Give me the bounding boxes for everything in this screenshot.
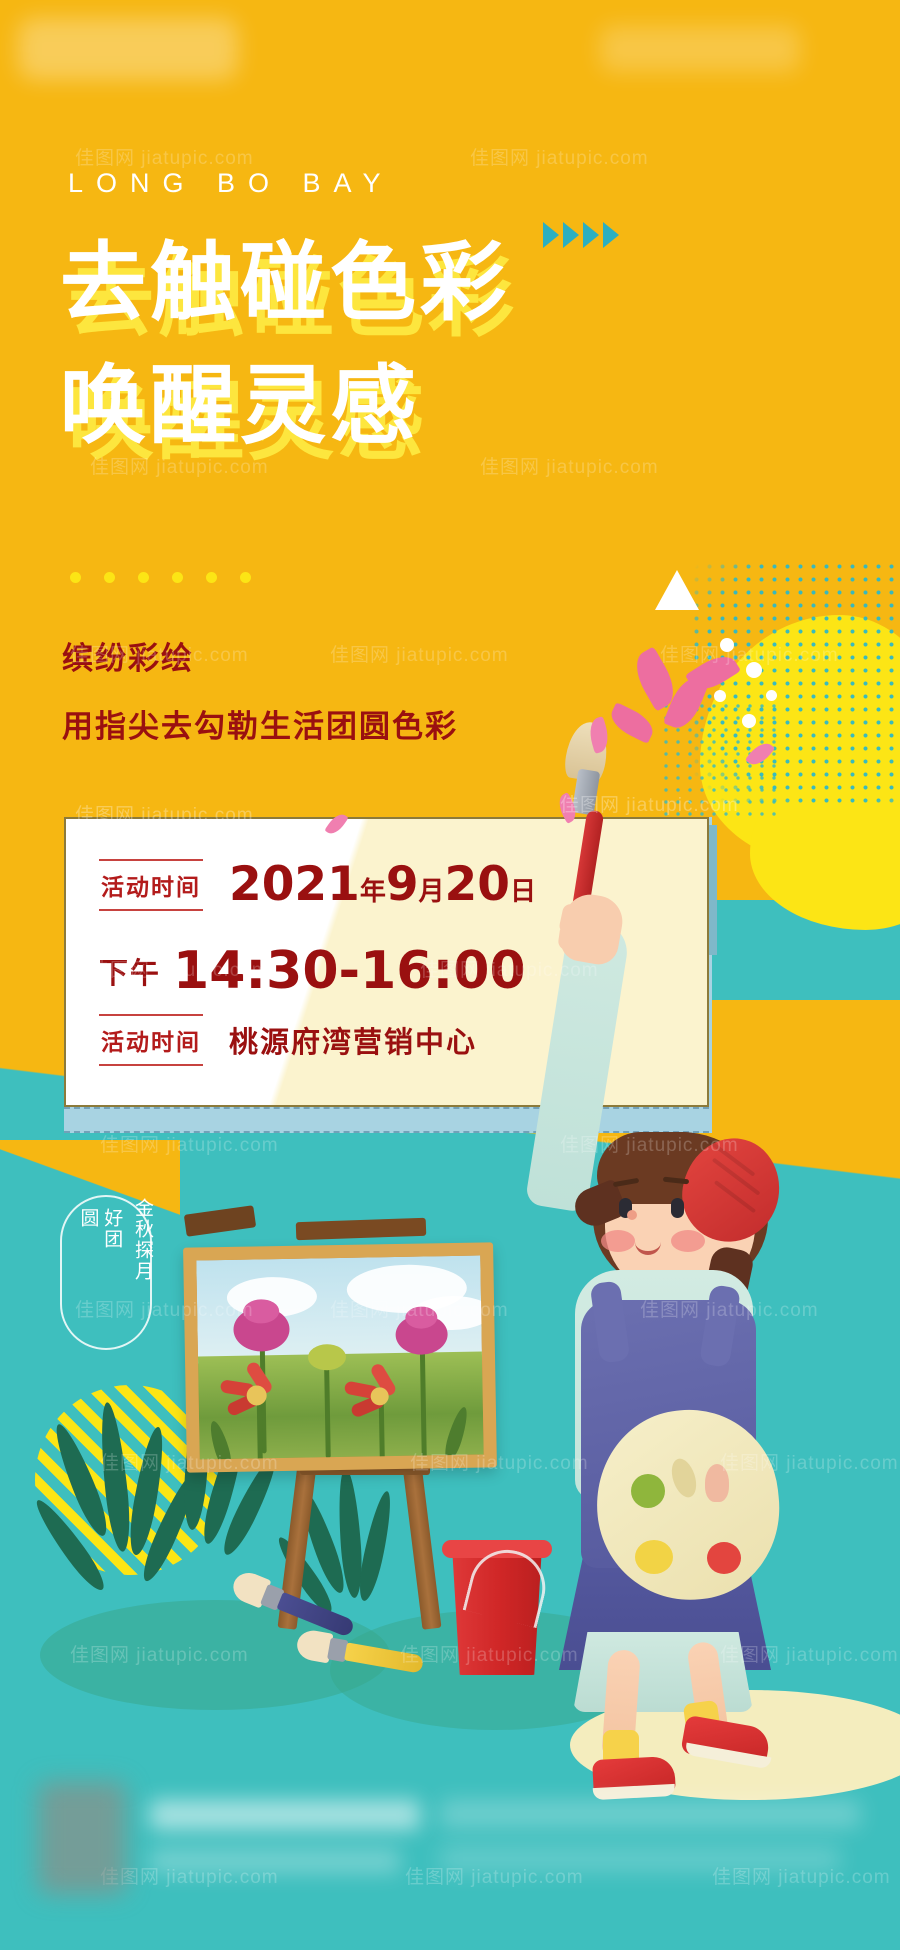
time-period-label: 下午 [99,950,161,992]
dot-separator-row [70,572,251,583]
date-month: 9 [386,857,419,912]
chevron-arrow-group [543,222,619,248]
chevron-right-icon [563,222,579,248]
girl-cheek [671,1230,705,1252]
girl-underskirt [573,1632,753,1712]
chevron-right-icon [543,222,559,248]
info-row-venue: 活动时间 桃源府湾营销中心 [99,1014,477,1066]
info-row-venue-value: 桃源府湾营销中心 [229,1019,477,1061]
girl-eye [671,1198,684,1218]
decor-white-dot [720,638,734,652]
girl-cheek [601,1230,635,1252]
dot-icon [172,572,183,583]
painting-canvas [183,1242,497,1472]
date-year-unit: 年 [360,877,386,907]
headline-line-2-text: 唤醒灵感 [60,335,420,460]
dot-icon [240,572,251,583]
chevron-right-icon [603,222,619,248]
headline-line-1-text: 去触碰色彩 [60,212,510,337]
redacted-text-bottom-1 [150,1800,420,1830]
redacted-text-top [600,26,800,72]
dot-icon [104,572,115,583]
decor-white-triangle [655,570,699,610]
decor-white-dot [714,690,726,702]
date-year: 2021 [229,857,360,912]
poster-canvas: LONG BO BAY 去触碰色彩 去触碰色彩 唤醒灵感 唤醒灵感 缤纷彩绘 用… [0,0,900,1950]
girl-nose [627,1210,637,1220]
redacted-logo-bottom [38,1782,126,1894]
info-row-date-label: 活动时间 [99,859,203,911]
redacted-text-bottom-3 [440,1800,860,1828]
brand-name-en: LONG BO BAY [68,168,394,199]
subtitle-line-2: 用指尖去勾勒生活团圆色彩 [62,701,458,746]
info-row-venue-label: 活动时间 [99,1014,203,1066]
palette-paint-yellow [635,1540,673,1574]
dot-icon [70,572,81,583]
dot-icon [138,572,149,583]
subtitle-line-1: 缤纷彩绘 [62,633,194,678]
redacted-text-bottom-4 [440,1846,840,1872]
decor-white-dot [742,714,756,728]
palette-paint-peach [705,1464,729,1502]
dot-icon [206,572,217,583]
girl-illustration [455,850,785,1710]
palette-paint-green [631,1474,665,1508]
redacted-text-bottom-2 [150,1848,400,1874]
redacted-logo-top [18,18,238,80]
chevron-right-icon [583,222,599,248]
decor-white-dot [766,690,777,701]
palette-paint-red [707,1542,741,1574]
decor-white-dot [746,662,762,678]
date-month-unit: 月 [419,877,445,907]
